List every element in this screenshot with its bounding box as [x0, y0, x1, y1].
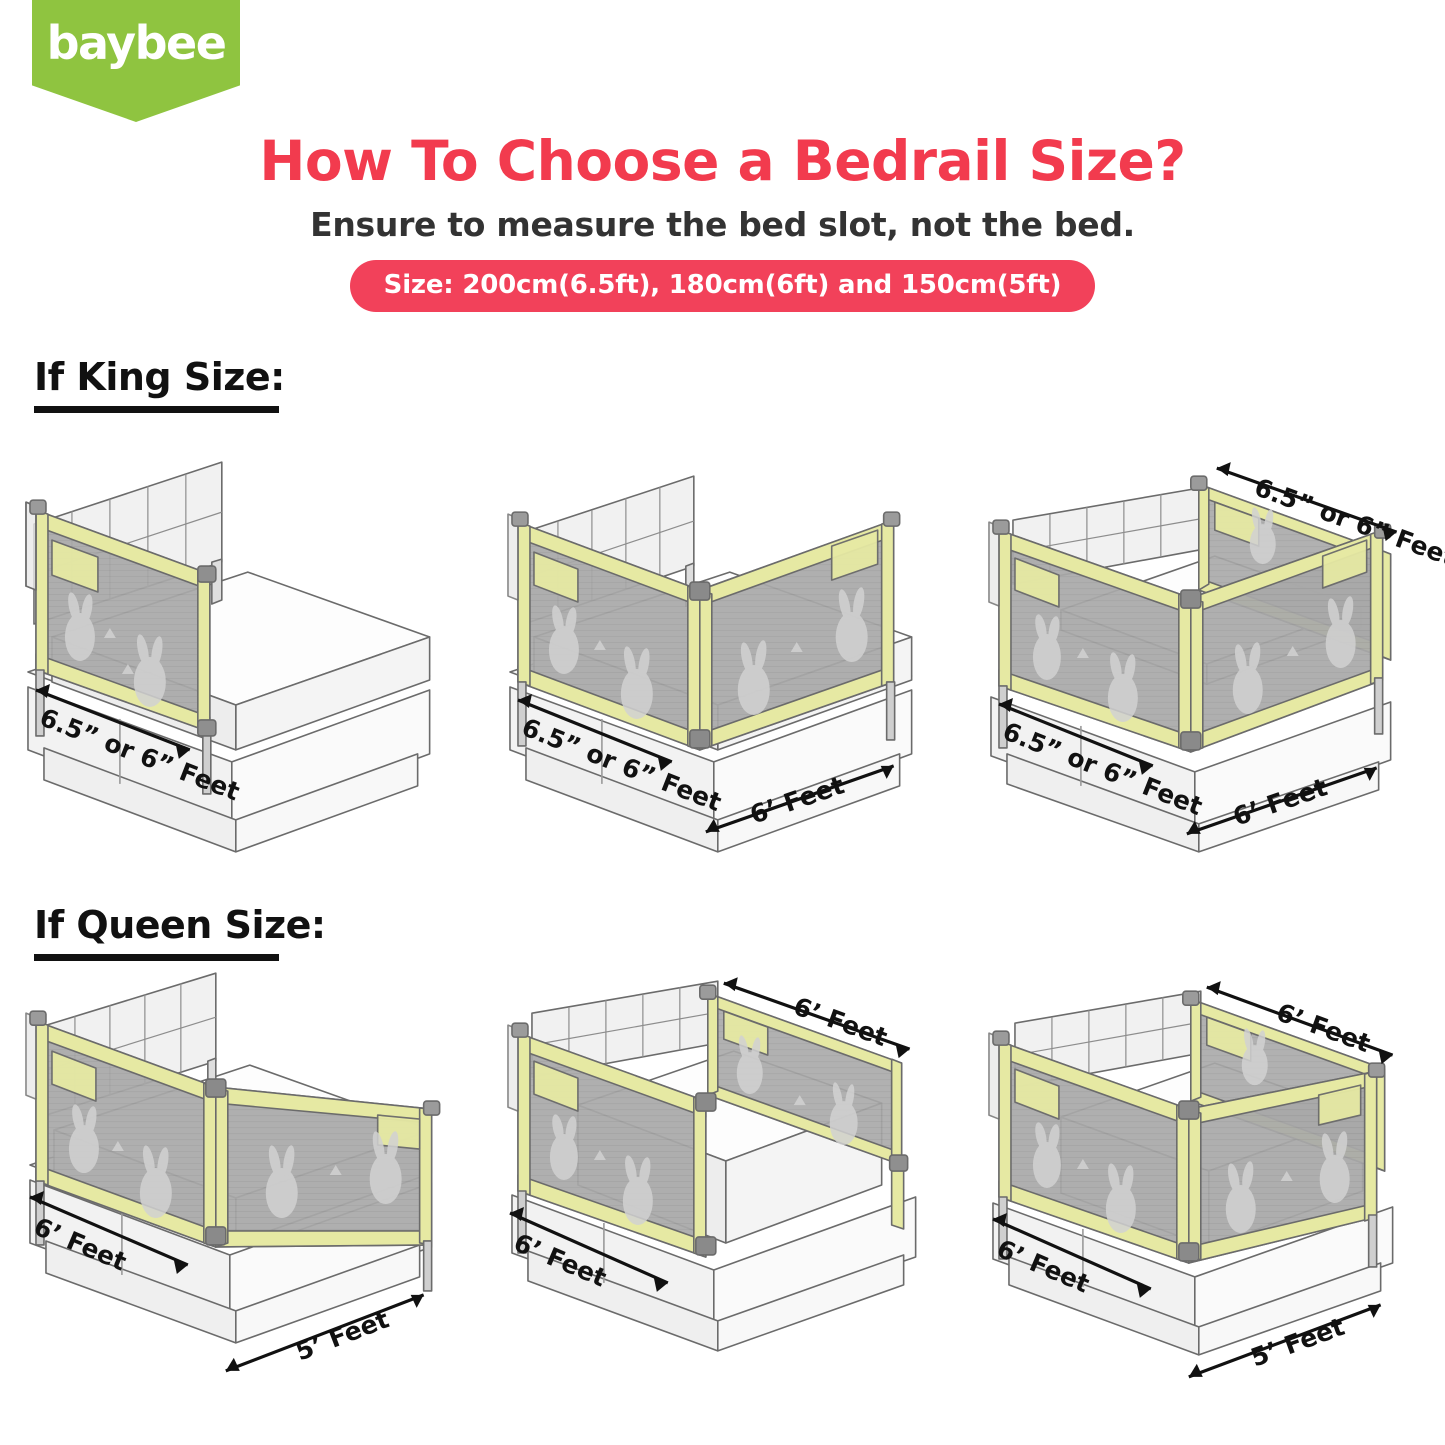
- queen-illustration-row: 6’ Feet 5’ Feet: [0, 965, 1445, 1435]
- size-badge-wrap: Size: 200cm(6.5ft), 180cm(6ft) and 150cm…: [0, 260, 1445, 312]
- header: How To Choose a Bedrail Size? Ensure to …: [0, 132, 1445, 312]
- page-title: How To Choose a Bedrail Size?: [0, 132, 1445, 191]
- bed-illustration-king-2: 6.5” or 6” Feet 6’ Feet: [482, 432, 964, 892]
- bed-illustration-queen-3: 6’ Feet 6’ Feet 5’ Feet: [963, 965, 1445, 1435]
- bed-illustration-queen-2: 6’ Feet 6’ Feet: [482, 965, 964, 1435]
- section-rule-king: [34, 406, 279, 413]
- size-badge: Size: 200cm(6.5ft), 180cm(6ft) and 150cm…: [350, 260, 1096, 312]
- brand-name: baybee: [47, 16, 226, 70]
- bed-illustration-queen-1: 6’ Feet 5’ Feet: [0, 965, 482, 1435]
- brand-logo: baybee: [32, 0, 240, 122]
- section-heading-queen: If Queen Size:: [34, 903, 326, 961]
- section-label-king: If King Size:: [34, 355, 285, 399]
- section-heading-king: If King Size:: [34, 355, 285, 413]
- section-rule-queen: [34, 954, 279, 961]
- king-illustration-row: 6.5” or 6” Feet: [0, 432, 1445, 892]
- page-subtitle: Ensure to measure the bed slot, not the …: [0, 205, 1445, 244]
- bed-illustration-king-3: 6.5” or 6” Feet 6.5” or 6” Feet 6’ Feet: [963, 432, 1445, 892]
- infographic-page: baybee How To Choose a Bedrail Size? Ens…: [0, 0, 1445, 1445]
- bed-illustration-king-1: 6.5” or 6” Feet: [0, 432, 482, 892]
- section-label-queen: If Queen Size:: [34, 903, 326, 947]
